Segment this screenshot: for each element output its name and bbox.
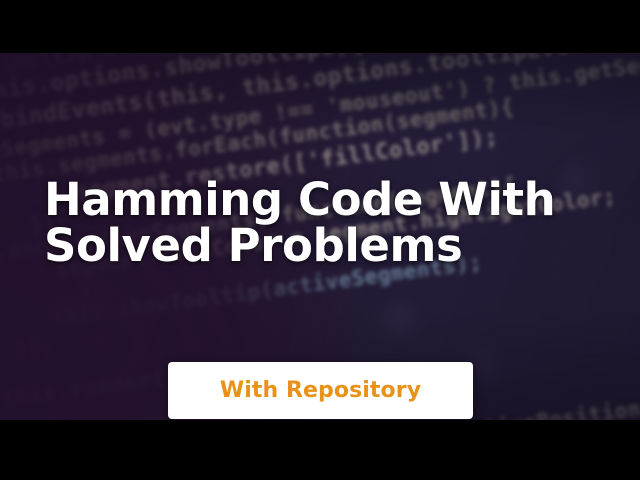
with-repository-button[interactable]: With Repository <box>168 362 473 419</box>
code-backdrop-line: }); <box>77 276 117 301</box>
code-backdrop-line: this.render(); <box>1 365 195 412</box>
title-line-1: Hamming Code With <box>44 177 604 223</box>
page-title: Hamming Code With Solved Problems <box>44 177 604 269</box>
title-line-2: Solved Problems <box>44 223 604 269</box>
video-thumbnail-frame: this});// set up tooltip events on the c… <box>0 0 640 480</box>
thumbnail-stage: this});// set up tooltip events on the c… <box>0 53 640 420</box>
letterbox-bar-bottom <box>0 420 640 480</box>
code-backdrop-line: }); <box>14 335 54 360</box>
with-repository-button-label: With Repository <box>220 378 421 403</box>
letterbox-bar-top <box>0 0 640 53</box>
